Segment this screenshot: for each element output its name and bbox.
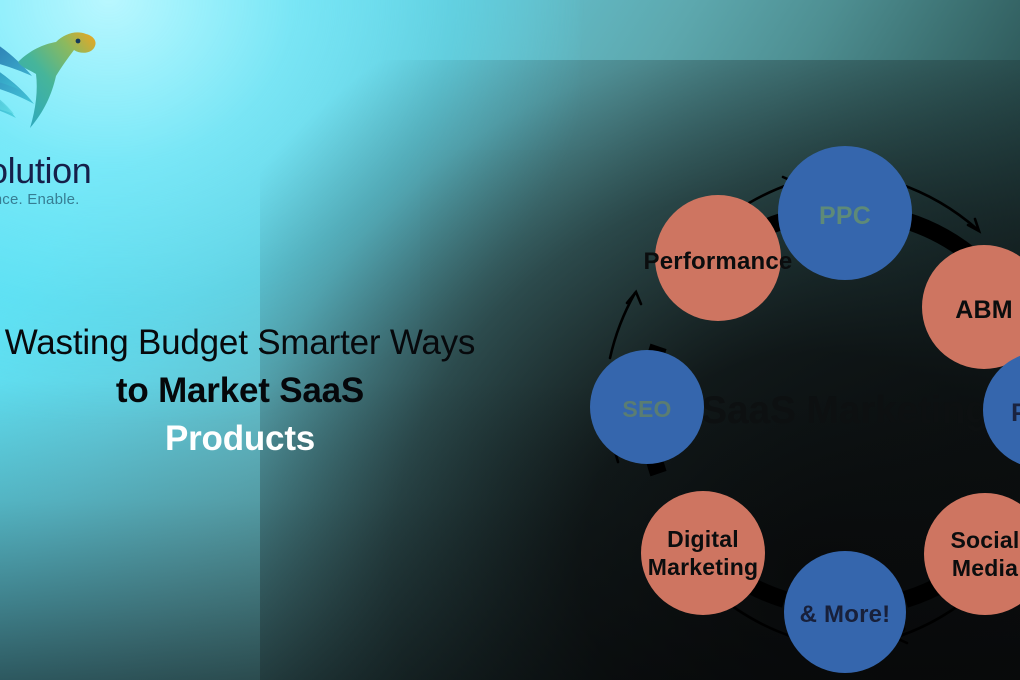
node-podcast[interactable]: Pod: [983, 352, 1020, 468]
headline: Wasting Budget Smarter Ways to Market Sa…: [0, 322, 540, 460]
node-performance[interactable]: Performance: [644, 195, 793, 321]
node-more[interactable]: & More!: [784, 551, 906, 673]
node-social-media[interactable]: Social Media: [924, 493, 1020, 615]
headline-line-3: Products: [0, 418, 540, 460]
node-digital-marketing-circle[interactable]: [641, 491, 765, 615]
node-seo-label: SEO: [622, 396, 671, 422]
node-abm[interactable]: ABM: [922, 245, 1020, 369]
diagram-center-title: SaaS Marketing: [701, 389, 989, 432]
node-digital-marketing[interactable]: Digital Marketing: [641, 491, 765, 615]
node-seo[interactable]: SEO: [590, 350, 704, 464]
node-abm-label: ABM: [955, 296, 1013, 324]
node-digital-marketing-label-2: Marketing: [648, 554, 758, 580]
flow-arrow-head-6: [627, 292, 641, 304]
node-social-media-label-1: Social: [951, 527, 1020, 553]
headline-line-1: Wasting Budget Smarter Ways: [0, 322, 540, 364]
node-performance-label: Performance: [644, 248, 793, 275]
node-social-media-label-2: Media: [952, 555, 1018, 581]
headline-line-2: to Market SaaS: [0, 370, 540, 412]
brand-logo: nix Solution reate. Enhance. Enable.: [0, 10, 198, 210]
phoenix-bird-logo-icon: [0, 10, 133, 145]
saas-marketing-cycle-diagram: SaaS Marketing PPC ABM Pod Social Media: [565, 130, 1020, 680]
node-ppc[interactable]: PPC: [778, 146, 912, 280]
node-social-media-circle[interactable]: [924, 493, 1020, 615]
node-ppc-label: PPC: [819, 202, 871, 230]
banner-canvas: nix Solution reate. Enhance. Enable. Was…: [0, 0, 1020, 680]
brand-tagline: reate. Enhance. Enable.: [0, 191, 204, 208]
flow-arrow-seo-to-performance: [610, 293, 635, 358]
node-more-label: & More!: [800, 601, 891, 628]
node-podcast-label: Pod: [1011, 399, 1020, 427]
brand-name: nix Solution: [0, 150, 200, 192]
node-digital-marketing-label-1: Digital: [667, 526, 739, 552]
